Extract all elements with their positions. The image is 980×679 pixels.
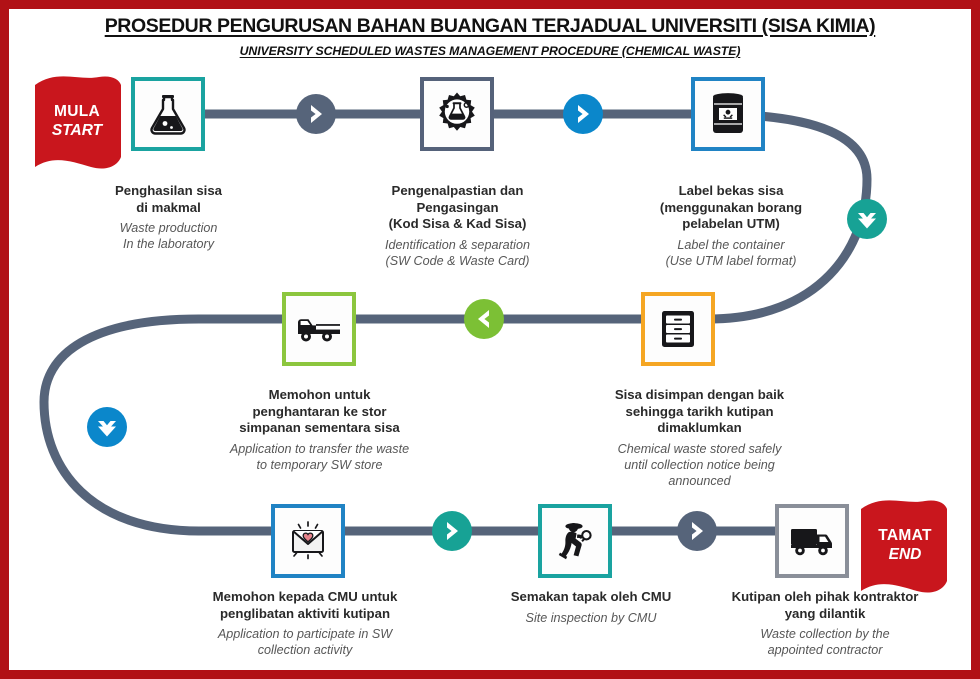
node-site-inspection[interactable] bbox=[538, 504, 612, 578]
start-flag: MULA START bbox=[29, 71, 125, 171]
caption-waste-production: Penghasilan sisa di makmal Waste product… bbox=[61, 183, 276, 253]
caption-en: Application to transfer the waste to tem… bbox=[199, 442, 440, 474]
caption-identification-separation: Pengenalpastian dan Pengasingan (Kod Sis… bbox=[342, 183, 573, 270]
arrow-3-down-icon bbox=[847, 199, 887, 239]
end-flag: TAMAT END bbox=[857, 495, 953, 595]
mail-envelope-icon bbox=[285, 520, 331, 562]
caption-en: Waste production In the laboratory bbox=[61, 221, 276, 253]
caption-site-inspection: Semakan tapak oleh CMU Site inspection b… bbox=[471, 589, 711, 626]
caption-en: Site inspection by CMU bbox=[471, 611, 711, 627]
gear-flask-icon bbox=[434, 91, 480, 137]
caption-ms: Memohon untuk penghantaran ke stor simpa… bbox=[199, 387, 440, 437]
storage-cabinet-icon bbox=[659, 308, 697, 350]
node-waste-production[interactable] bbox=[131, 77, 205, 151]
node-identification-separation[interactable] bbox=[420, 77, 494, 151]
caption-en: Identification & separation (SW Code & W… bbox=[342, 238, 573, 270]
arrow-7-right-icon bbox=[677, 511, 717, 551]
caption-store-safely: Sisa disimpan dengan baik sehingga tarik… bbox=[582, 387, 817, 489]
node-contractor-collection[interactable] bbox=[775, 504, 849, 578]
caption-en: Application to participate in SW collect… bbox=[179, 627, 431, 659]
caption-en: Chemical waste stored safely until colle… bbox=[582, 442, 817, 490]
arrow-6-right-icon bbox=[432, 511, 472, 551]
caption-label-container: Label bekas sisa (menggunakan borang pel… bbox=[623, 183, 839, 270]
flask-icon bbox=[146, 92, 190, 136]
caption-transfer-application: Memohon untuk penghantaran ke stor simpa… bbox=[199, 387, 440, 474]
hazard-barrel-icon bbox=[708, 92, 748, 136]
caption-ms: Label bekas sisa (menggunakan borang pel… bbox=[623, 183, 839, 233]
node-store-safely[interactable] bbox=[641, 292, 715, 366]
caption-ms: Penghasilan sisa di makmal bbox=[61, 183, 276, 216]
node-transfer-application[interactable] bbox=[282, 292, 356, 366]
caption-ms: Semakan tapak oleh CMU bbox=[471, 589, 711, 606]
arrow-5-down-icon bbox=[87, 407, 127, 447]
caption-ms: Sisa disimpan dengan baik sehingga tarik… bbox=[582, 387, 817, 437]
caption-apply-to-cmu: Memohon kepada CMU untuk penglibatan akt… bbox=[179, 589, 431, 659]
caption-ms: Memohon kepada CMU untuk penglibatan akt… bbox=[179, 589, 431, 622]
flowchart-poster: PROSEDUR PENGURUSAN BAHAN BUANGAN TERJAD… bbox=[0, 0, 980, 679]
arrow-2-right-icon bbox=[563, 94, 603, 134]
arrow-4-left-icon bbox=[464, 299, 504, 339]
node-label-container[interactable] bbox=[691, 77, 765, 151]
caption-en: Waste collection by the appointed contra… bbox=[699, 627, 951, 659]
caption-ms: Pengenalpastian dan Pengasingan (Kod Sis… bbox=[342, 183, 573, 233]
arrow-1-right-icon bbox=[296, 94, 336, 134]
node-apply-to-cmu[interactable] bbox=[271, 504, 345, 578]
caption-en: Label the container (Use UTM label forma… bbox=[623, 238, 839, 270]
delivery-truck-icon bbox=[789, 524, 835, 558]
pickup-truck-icon bbox=[296, 313, 342, 345]
caption-contractor-collection: Kutipan oleh pihak kontraktor yang dilan… bbox=[699, 589, 951, 659]
inspector-icon bbox=[557, 520, 593, 562]
